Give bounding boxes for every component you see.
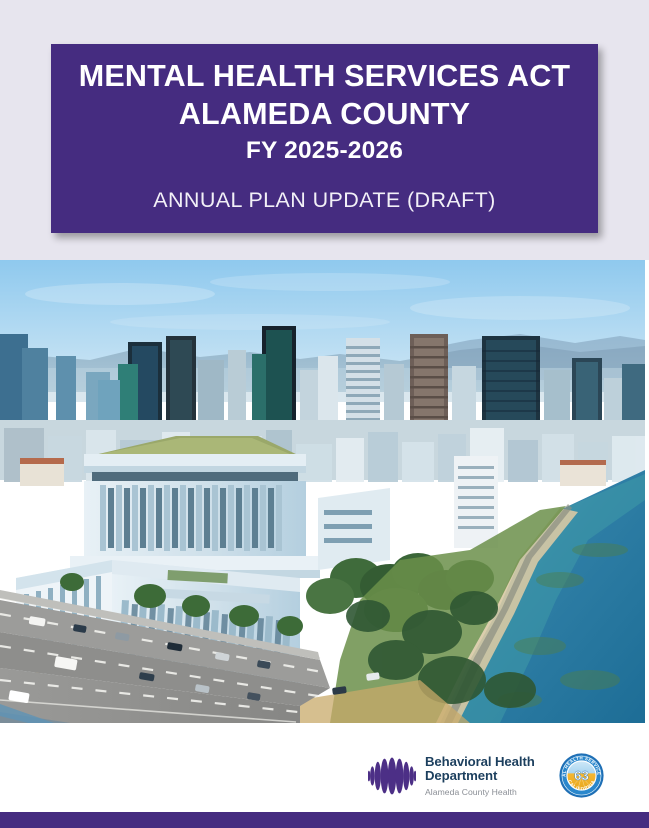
behavioral-health-logo-icon — [368, 756, 416, 796]
title-fiscal-year: FY 2025-2026 — [63, 134, 586, 168]
footer-accent-bar — [0, 812, 649, 828]
cover-photograph — [0, 260, 645, 723]
title-line-2: ALAMEDA COUNTY — [63, 95, 586, 133]
title-banner: MENTAL HEALTH SERVICES ACT ALAMEDA COUNT… — [51, 44, 598, 233]
behavioral-health-wordmark: Behavioral Health Department Alameda Cou… — [425, 755, 535, 797]
bhd-name-line-2: Department — [425, 769, 535, 784]
svg-text:63: 63 — [574, 768, 589, 783]
footer-logo-row: Behavioral Health Department Alameda Cou… — [368, 752, 605, 799]
title-line-1: MENTAL HEALTH SERVICES ACT — [63, 57, 586, 95]
title-subtitle: ANNUAL PLAN UPDATE (DRAFT) — [63, 185, 586, 215]
mhsa-prop63-seal-icon: 63 MENTAL HEALTH SERVICES ACT CALIFORNIA — [558, 752, 605, 799]
bhd-tagline: Alameda County Health — [425, 788, 535, 797]
bhd-name-line-1: Behavioral Health — [425, 755, 535, 770]
report-cover-page: MENTAL HEALTH SERVICES ACT ALAMEDA COUNT… — [0, 0, 649, 828]
